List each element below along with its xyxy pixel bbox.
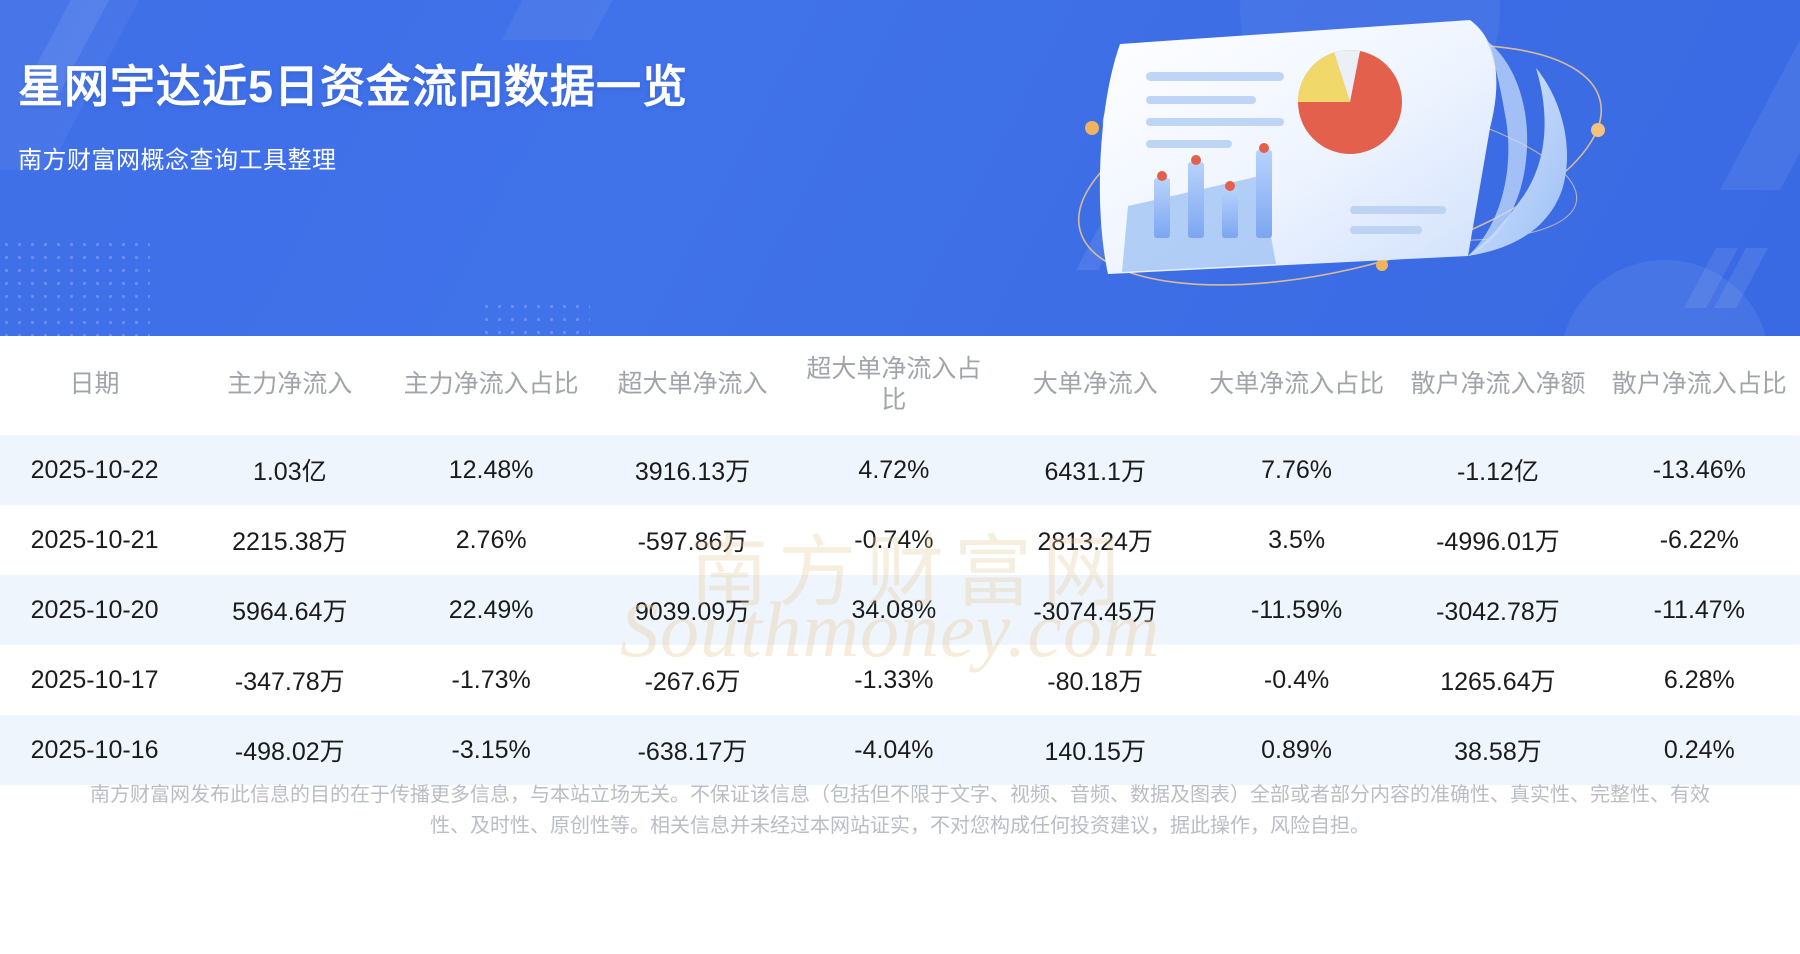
decor-dots — [480, 300, 590, 336]
decor-stripe — [1720, 40, 1800, 190]
cell-main-net-inflow-ratio: -1.73% — [390, 645, 591, 715]
fund-flow-table: 日期 主力净流入 主力净流入占比 超大单净流入 超大单净流入占比 大单净流入 大… — [0, 336, 1800, 785]
table-row: 2025-10-22 1.03亿 12.48% 3916.13万 4.72% 6… — [0, 435, 1800, 505]
cell-super-large-net-inflow: -638.17万 — [592, 715, 793, 785]
cell-retail-net-inflow-amount: -1.12亿 — [1397, 435, 1598, 505]
column-header-retail-net-inflow-amount: 散户净流入净额 — [1397, 336, 1598, 435]
decor-stripe — [501, 0, 628, 40]
cell-large-net-inflow-ratio: 3.5% — [1196, 505, 1397, 575]
cell-super-large-net-inflow-ratio: -4.04% — [793, 715, 994, 785]
cell-date: 2025-10-21 — [0, 505, 189, 575]
table-header-row: 日期 主力净流入 主力净流入占比 超大单净流入 超大单净流入占比 大单净流入 大… — [0, 336, 1800, 435]
cell-retail-net-inflow-ratio: 0.24% — [1599, 715, 1800, 785]
table-row: 2025-10-17 -347.78万 -1.73% -267.6万 -1.33… — [0, 645, 1800, 715]
cell-main-net-inflow: 5964.64万 — [189, 575, 390, 645]
cell-main-net-inflow: -498.02万 — [189, 715, 390, 785]
cell-main-net-inflow-ratio: -3.15% — [390, 715, 591, 785]
cell-retail-net-inflow-amount: -3042.78万 — [1397, 575, 1598, 645]
disclaimer: 南方财富网发布此信息的目的在于传播更多信息，与本站立场无关。不保证该信息（包括但… — [0, 780, 1800, 842]
cell-large-net-inflow: 2813.24万 — [995, 505, 1196, 575]
cell-large-net-inflow: 6431.1万 — [995, 435, 1196, 505]
table-header: 日期 主力净流入 主力净流入占比 超大单净流入 超大单净流入占比 大单净流入 大… — [0, 336, 1800, 435]
page-subtitle: 南方财富网概念查询工具整理 — [18, 140, 337, 175]
table-row: 2025-10-20 5964.64万 22.49% 9039.09万 34.0… — [0, 575, 1800, 645]
column-header-date: 日期 — [0, 336, 189, 435]
cell-super-large-net-inflow-ratio: -1.33% — [793, 645, 994, 715]
cell-large-net-inflow-ratio: -0.4% — [1196, 645, 1397, 715]
cell-large-net-inflow-ratio: -11.59% — [1196, 575, 1397, 645]
column-header-main-net-inflow-ratio: 主力净流入占比 — [390, 336, 591, 435]
cell-retail-net-inflow-ratio: -13.46% — [1599, 435, 1800, 505]
cell-date: 2025-10-20 — [0, 575, 189, 645]
fund-flow-table-container: 日期 主力净流入 主力净流入占比 超大单净流入 超大单净流入占比 大单净流入 大… — [0, 336, 1800, 785]
column-header-super-large-net-inflow: 超大单净流入 — [592, 336, 793, 435]
cell-retail-net-inflow-ratio: 6.28% — [1599, 645, 1800, 715]
table-row: 2025-10-21 2215.38万 2.76% -597.86万 -0.74… — [0, 505, 1800, 575]
column-header-main-net-inflow: 主力净流入 — [189, 336, 390, 435]
cell-super-large-net-inflow-ratio: -0.74% — [793, 505, 994, 575]
cell-main-net-inflow: -347.78万 — [189, 645, 390, 715]
cell-large-net-inflow: 140.15万 — [995, 715, 1196, 785]
cell-main-net-inflow-ratio: 2.76% — [390, 505, 591, 575]
cell-super-large-net-inflow: 3916.13万 — [592, 435, 793, 505]
table-body: 2025-10-22 1.03亿 12.48% 3916.13万 4.72% 6… — [0, 435, 1800, 785]
disclaimer-line-2: 性、及时性、原创性等。相关信息并未经过本网站证实，不对您构成任何投资建议，据此操… — [10, 811, 1790, 842]
cell-super-large-net-inflow-ratio: 4.72% — [793, 435, 994, 505]
cell-date: 2025-10-17 — [0, 645, 189, 715]
table-row: 2025-10-16 -498.02万 -3.15% -638.17万 -4.0… — [0, 715, 1800, 785]
column-header-large-net-inflow: 大单净流入 — [995, 336, 1196, 435]
cell-retail-net-inflow-amount: -4996.01万 — [1397, 505, 1598, 575]
decor-dots — [0, 238, 150, 336]
cell-retail-net-inflow-ratio: -11.47% — [1599, 575, 1800, 645]
cell-date: 2025-10-16 — [0, 715, 189, 785]
cell-super-large-net-inflow: 9039.09万 — [592, 575, 793, 645]
cell-super-large-net-inflow: -597.86万 — [592, 505, 793, 575]
column-header-large-net-inflow-ratio: 大单净流入占比 — [1196, 336, 1397, 435]
cell-large-net-inflow-ratio: 0.89% — [1196, 715, 1397, 785]
cell-main-net-inflow-ratio: 12.48% — [390, 435, 591, 505]
page-root: 星网宇达近5日资金流向数据一览 南方财富网概念查询工具整理 南方财富网 Sout… — [0, 0, 1800, 954]
cell-retail-net-inflow-amount: 38.58万 — [1397, 715, 1598, 785]
column-header-retail-net-inflow-ratio: 散户净流入占比 — [1599, 336, 1800, 435]
cell-main-net-inflow-ratio: 22.49% — [390, 575, 591, 645]
cell-main-net-inflow: 1.03亿 — [189, 435, 390, 505]
cell-large-net-inflow: -80.18万 — [995, 645, 1196, 715]
column-header-super-large-net-inflow-ratio: 超大单净流入占比 — [793, 336, 994, 435]
disclaimer-line-1: 南方财富网发布此信息的目的在于传播更多信息，与本站立场无关。不保证该信息（包括但… — [90, 784, 1710, 806]
cell-super-large-net-inflow-ratio: 34.08% — [793, 575, 994, 645]
hero-banner: 星网宇达近5日资金流向数据一览 南方财富网概念查询工具整理 — [0, 0, 1800, 336]
cell-retail-net-inflow-ratio: -6.22% — [1599, 505, 1800, 575]
cell-large-net-inflow: -3074.45万 — [995, 575, 1196, 645]
page-title: 星网宇达近5日资金流向数据一览 — [18, 50, 688, 115]
cell-date: 2025-10-22 — [0, 435, 189, 505]
cell-retail-net-inflow-amount: 1265.64万 — [1397, 645, 1598, 715]
cell-main-net-inflow: 2215.38万 — [189, 505, 390, 575]
newspaper-chart-illustration — [1050, 10, 1610, 310]
cell-super-large-net-inflow: -267.6万 — [592, 645, 793, 715]
cell-large-net-inflow-ratio: 7.76% — [1196, 435, 1397, 505]
